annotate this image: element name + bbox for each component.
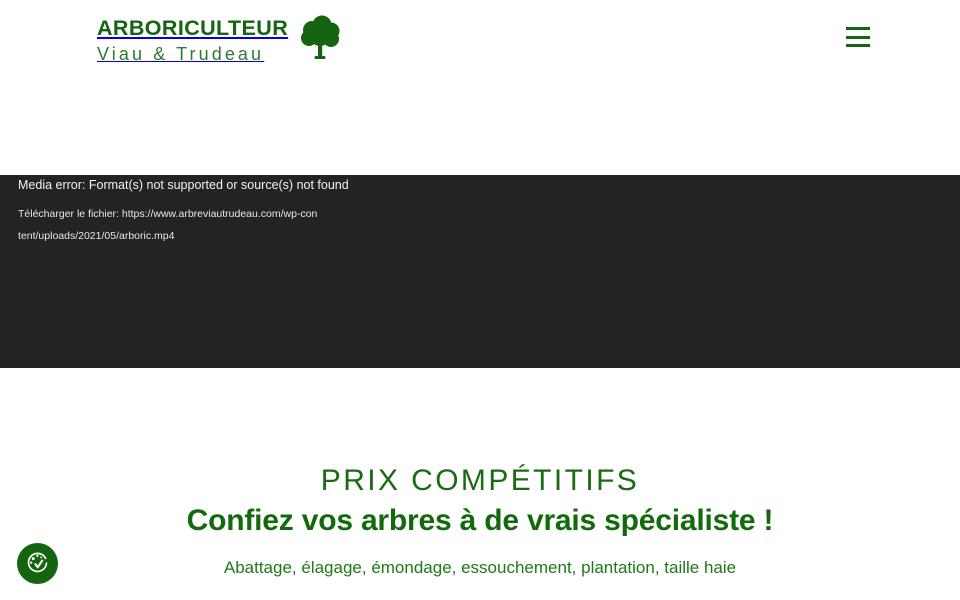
logo-subtitle: Viau & Trudeau	[97, 42, 288, 66]
hero-section: PRIX COMPÉTITIFS Confiez vos arbres à de…	[0, 368, 960, 600]
logo-title: ARBORICULTEUR	[97, 17, 288, 40]
hamburger-menu-icon[interactable]	[846, 26, 872, 48]
site-logo[interactable]: ARBORICULTEUR Viau & Trudeau	[97, 17, 343, 66]
hamburger-bar-top	[846, 27, 870, 30]
site-header: ARBORICULTEUR Viau & Trudeau	[0, 0, 960, 80]
hamburger-bar-middle	[846, 36, 870, 39]
logo-text-block: ARBORICULTEUR Viau & Trudeau	[97, 17, 288, 66]
hero-kicker: PRIX COMPÉTITIFS	[0, 368, 960, 497]
video-player-region[interactable]: Media error: Format(s) not supported or …	[0, 175, 960, 368]
media-error-message: Media error: Format(s) not supported or …	[18, 179, 438, 192]
media-download-link[interactable]: Télécharger le fichier: https://www.arbr…	[18, 203, 318, 248]
hero-services-list: Abattage, élagage, émondage, essouchemen…	[0, 558, 960, 578]
hamburger-bar-bottom	[846, 44, 870, 47]
tree-icon	[297, 15, 343, 66]
cookie-consent-icon[interactable]	[17, 543, 58, 584]
hero-title: Confiez vos arbres à de vrais spécialist…	[0, 504, 960, 539]
media-error-block: Media error: Format(s) not supported or …	[18, 175, 438, 248]
